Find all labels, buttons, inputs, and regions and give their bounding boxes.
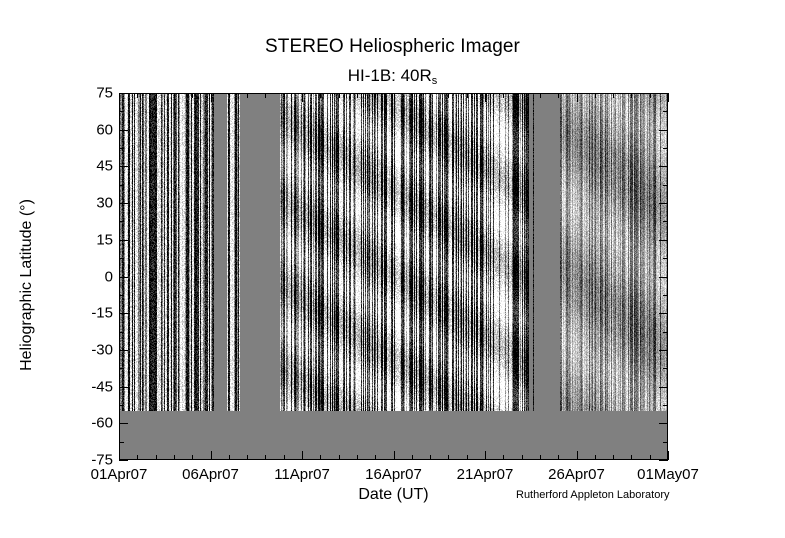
y-major-tick [119, 350, 128, 351]
y-minor-tick-right [663, 368, 668, 369]
x-minor-tick-top [613, 93, 614, 98]
x-minor-tick [247, 455, 248, 460]
y-major-tick [119, 240, 128, 241]
y-minor-tick [119, 221, 124, 222]
x-minor-tick [430, 455, 431, 460]
x-minor-tick [558, 455, 559, 460]
x-major-tick [302, 451, 303, 460]
y-major-tick [119, 93, 128, 94]
x-tick-label: 11Apr07 [274, 466, 330, 483]
y-minor-tick-right [663, 221, 668, 222]
y-minor-tick-right [663, 185, 668, 186]
x-tick-label: 01May07 [637, 466, 699, 483]
chart-subtitle-subscript: s [432, 75, 438, 87]
y-tick-label: -30 [91, 341, 113, 358]
x-minor-tick [375, 455, 376, 460]
x-minor-tick [412, 455, 413, 460]
y-major-tick [119, 387, 128, 388]
y-major-tick-right [659, 203, 668, 204]
y-axis-label: Heliographic Latitude (°) [18, 135, 36, 435]
x-minor-tick [448, 455, 449, 460]
y-axis-tick-labels: 75604530150-15-30-45-60-75 [56, 0, 113, 538]
y-major-tick [119, 277, 128, 278]
y-minor-tick-right [663, 258, 668, 259]
y-major-tick-right [659, 423, 668, 424]
x-minor-tick [137, 455, 138, 460]
x-minor-tick [540, 455, 541, 460]
y-tick-label: -45 [91, 378, 113, 395]
x-minor-tick-top [156, 93, 157, 98]
jmap-stripes [280, 93, 529, 411]
x-major-tick [668, 451, 669, 460]
y-minor-tick-right [663, 332, 668, 333]
jmap-stripes [119, 93, 214, 411]
x-minor-tick [339, 455, 340, 460]
figure-canvas: STEREO Heliospheric Imager HI-1B: 40Rs 7… [0, 0, 785, 538]
data-segment [560, 93, 668, 411]
y-minor-tick [119, 295, 124, 296]
y-minor-tick [119, 368, 124, 369]
jmap-stripes [560, 93, 668, 411]
x-minor-tick [320, 455, 321, 460]
x-minor-tick-top [430, 93, 431, 98]
y-major-tick [119, 203, 128, 204]
x-major-tick-top [211, 93, 212, 102]
y-minor-tick [119, 148, 124, 149]
y-major-tick-right [659, 460, 668, 461]
y-minor-tick [119, 185, 124, 186]
x-major-tick [394, 451, 395, 460]
data-segment [533, 93, 534, 411]
y-minor-tick [119, 332, 124, 333]
jmap-stripes [533, 93, 534, 411]
x-minor-tick [631, 455, 632, 460]
data-segment [119, 93, 214, 411]
x-tick-label: 21Apr07 [457, 466, 514, 483]
jmap-stripes [227, 93, 240, 411]
y-tick-label: 45 [96, 158, 113, 175]
x-tick-label: 06Apr07 [182, 466, 239, 483]
x-minor-tick [650, 455, 651, 460]
x-minor-tick-top [650, 93, 651, 98]
x-minor-tick-top [265, 93, 266, 98]
x-minor-tick-top [412, 93, 413, 98]
x-major-tick-top [577, 93, 578, 102]
chart-subtitle-main: HI-1B: 40R [348, 66, 432, 85]
y-tick-label: 60 [96, 121, 113, 138]
y-major-tick-right [659, 387, 668, 388]
y-major-tick-right [659, 277, 668, 278]
x-minor-tick-top [522, 93, 523, 98]
y-major-tick [119, 130, 128, 131]
y-minor-tick-right [663, 148, 668, 149]
y-minor-tick [119, 111, 124, 112]
x-major-tick-top [394, 93, 395, 102]
x-minor-tick-top [137, 93, 138, 98]
plot-area [119, 93, 668, 460]
y-major-tick-right [659, 313, 668, 314]
y-minor-tick-right [663, 295, 668, 296]
y-major-tick-right [659, 350, 668, 351]
y-tick-label: -60 [91, 415, 113, 432]
y-tick-label: -15 [91, 305, 113, 322]
x-major-tick [577, 451, 578, 460]
x-major-tick-top [119, 93, 120, 102]
x-minor-tick [613, 455, 614, 460]
x-minor-tick-top [320, 93, 321, 98]
x-minor-tick-top [631, 93, 632, 98]
x-minor-tick-top [540, 93, 541, 98]
y-major-tick-right [659, 240, 668, 241]
y-major-tick [119, 166, 128, 167]
chart-subtitle: HI-1B: 40Rs [0, 66, 785, 86]
x-major-tick [119, 451, 120, 460]
x-minor-tick-top [375, 93, 376, 98]
x-minor-tick-top [339, 93, 340, 98]
y-tick-label: 0 [105, 268, 113, 285]
x-minor-tick [467, 455, 468, 460]
x-major-tick [211, 451, 212, 460]
x-tick-label: 16Apr07 [365, 466, 422, 483]
y-minor-tick-right [663, 442, 668, 443]
x-minor-tick [192, 455, 193, 460]
y-major-tick [119, 460, 128, 461]
x-minor-tick-top [192, 93, 193, 98]
x-major-tick-top [668, 93, 669, 102]
x-minor-tick-top [174, 93, 175, 98]
y-tick-label: 30 [96, 195, 113, 212]
x-minor-tick-top [284, 93, 285, 98]
x-minor-tick-top [558, 93, 559, 98]
x-minor-tick [229, 455, 230, 460]
x-major-tick [485, 451, 486, 460]
y-major-tick-right [659, 166, 668, 167]
x-minor-tick-top [229, 93, 230, 98]
y-minor-tick-right [663, 111, 668, 112]
x-tick-label: 01Apr07 [91, 466, 148, 483]
y-major-tick-right [659, 93, 668, 94]
credit-text: Rutherford Appleton Laboratory [516, 489, 670, 501]
x-minor-tick-top [595, 93, 596, 98]
y-major-tick [119, 313, 128, 314]
y-tick-label: 75 [96, 85, 113, 102]
x-minor-tick [156, 455, 157, 460]
x-major-tick-top [485, 93, 486, 102]
x-minor-tick [595, 455, 596, 460]
y-minor-tick [119, 442, 124, 443]
y-major-tick [119, 423, 128, 424]
data-segment [227, 93, 240, 411]
x-tick-label: 26Apr07 [548, 466, 605, 483]
x-minor-tick [265, 455, 266, 460]
y-major-tick-right [659, 130, 668, 131]
y-minor-tick [119, 258, 124, 259]
data-segment [280, 93, 529, 411]
x-minor-tick-top [503, 93, 504, 98]
y-tick-label: 15 [96, 231, 113, 248]
x-minor-tick [357, 455, 358, 460]
x-major-tick-top [302, 93, 303, 102]
x-minor-tick-top [357, 93, 358, 98]
y-minor-tick [119, 405, 124, 406]
y-minor-tick-right [663, 405, 668, 406]
x-minor-tick-top [448, 93, 449, 98]
x-minor-tick [284, 455, 285, 460]
x-minor-tick-top [467, 93, 468, 98]
x-minor-tick [503, 455, 504, 460]
chart-title: STEREO Heliospheric Imager [0, 36, 785, 58]
x-minor-tick-top [247, 93, 248, 98]
x-minor-tick [522, 455, 523, 460]
x-minor-tick [174, 455, 175, 460]
